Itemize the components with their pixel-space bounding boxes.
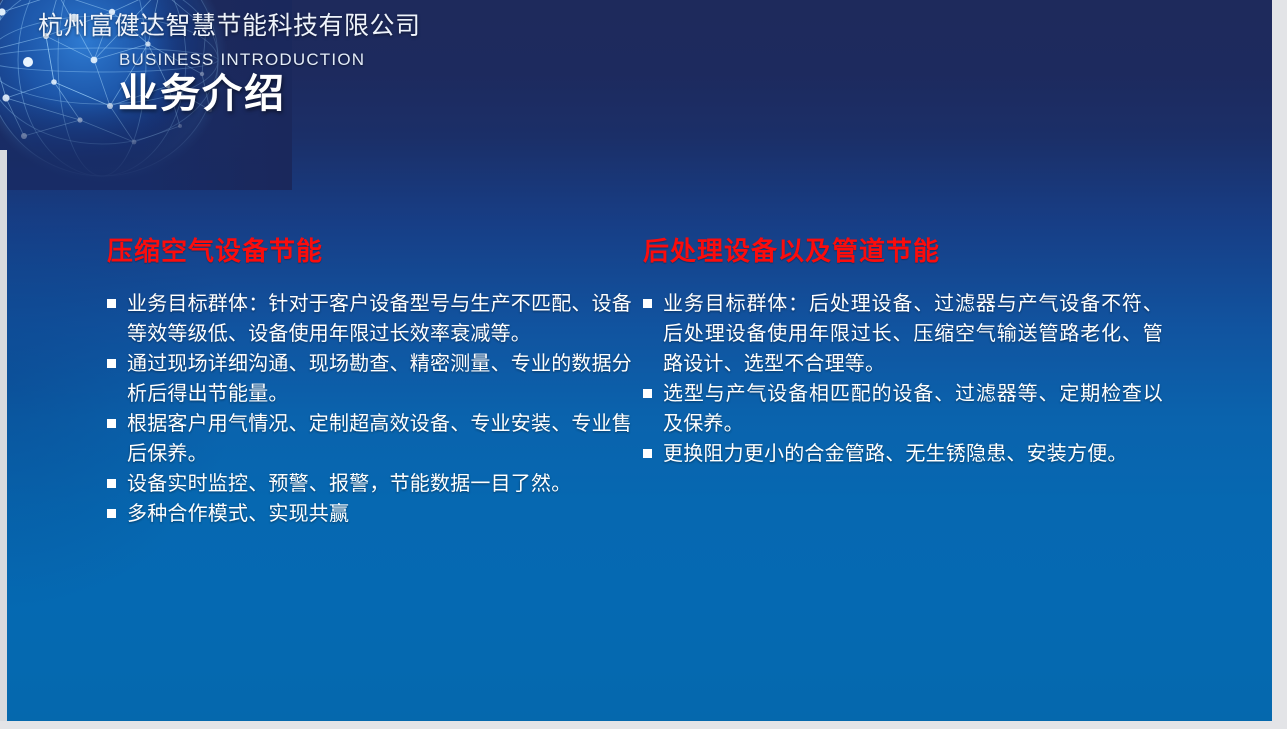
list-item-text: 多种合作模式、实现共赢 [127, 503, 349, 525]
column-heading: 压缩空气设备节能 [107, 234, 632, 268]
company-name: 杭州富健达智慧节能科技有限公司 [38, 11, 421, 41]
page-frame-left [0, 150, 7, 721]
bullet-list: 业务目标群体：针对于客户设备型号与生产不匹配、设备等效等级低、设备使用年限过长效… [107, 289, 632, 529]
slide-root: 杭州富健达智慧节能科技有限公司 BUSINESS INTRODUCTION 业务… [0, 0, 1287, 729]
content-column-left: 压缩空气设备节能 业务目标群体：针对于客户设备型号与生产不匹配、设备等效等级低、… [107, 234, 632, 529]
list-item-text: 通过现场详细沟通、现场勘查、精密测量、专业的数据分析后得出节能量。 [127, 353, 632, 405]
square-bullet-icon [643, 389, 652, 398]
page-frame-bottom [0, 721, 1287, 729]
list-item-text: 选型与产气设备相匹配的设备、过滤器等、定期检查以及保养。 [663, 383, 1163, 435]
list-item: 选型与产气设备相匹配的设备、过滤器等、定期检查以及保养。 [643, 379, 1163, 439]
square-bullet-icon [107, 479, 116, 488]
section-subtitle-en: BUSINESS INTRODUCTION [119, 50, 365, 70]
square-bullet-icon [107, 299, 116, 308]
square-bullet-icon [107, 359, 116, 368]
list-item-text: 设备实时监控、预警、报警，节能数据一目了然。 [127, 473, 571, 495]
list-item: 根据客户用气情况、定制超高效设备、专业安装、专业售后保养。 [107, 409, 632, 469]
list-item-text: 更换阻力更小的合金管路、无生锈隐患、安装方便。 [663, 443, 1128, 465]
square-bullet-icon [107, 509, 116, 518]
list-item: 更换阻力更小的合金管路、无生锈隐患、安装方便。 [643, 439, 1163, 469]
bullet-list: 业务目标群体：后处理设备、过滤器与产气设备不符、后处理设备使用年限过长、压缩空气… [643, 289, 1163, 469]
content-column-right: 后处理设备以及管道节能 业务目标群体：后处理设备、过滤器与产气设备不符、后处理设… [643, 234, 1163, 469]
list-item: 通过现场详细沟通、现场勘查、精密测量、专业的数据分析后得出节能量。 [107, 349, 632, 409]
slide-canvas: 杭州富健达智慧节能科技有限公司 BUSINESS INTRODUCTION 业务… [0, 0, 1272, 721]
list-item-text: 业务目标群体：后处理设备、过滤器与产气设备不符、后处理设备使用年限过长、压缩空气… [663, 293, 1163, 375]
section-title-cn: 业务介绍 [118, 70, 286, 118]
square-bullet-icon [107, 419, 116, 428]
square-bullet-icon [643, 449, 652, 458]
page-frame-right [1272, 0, 1287, 729]
list-item: 设备实时监控、预警、报警，节能数据一目了然。 [107, 469, 632, 499]
list-item-text: 根据客户用气情况、定制超高效设备、专业安装、专业售后保养。 [127, 413, 632, 465]
list-item: 业务目标群体：针对于客户设备型号与生产不匹配、设备等效等级低、设备使用年限过长效… [107, 289, 632, 349]
list-item: 业务目标群体：后处理设备、过滤器与产气设备不符、后处理设备使用年限过长、压缩空气… [643, 289, 1163, 379]
square-bullet-icon [643, 299, 652, 308]
list-item-text: 业务目标群体：针对于客户设备型号与生产不匹配、设备等效等级低、设备使用年限过长效… [127, 293, 632, 345]
column-heading: 后处理设备以及管道节能 [643, 234, 1163, 268]
list-item: 多种合作模式、实现共赢 [107, 499, 632, 529]
